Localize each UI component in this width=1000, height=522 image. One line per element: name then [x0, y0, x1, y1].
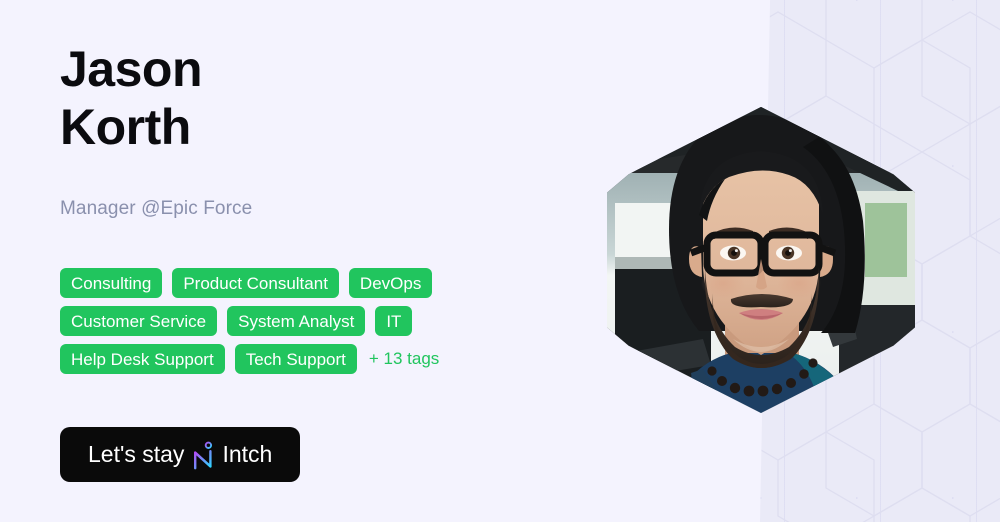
lets-stay-intch-button[interactable]: Let's stay Intch [60, 427, 300, 482]
cta-text-after: Intch [222, 441, 272, 468]
tag-chip[interactable]: Tech Support [235, 344, 357, 374]
tag-chip[interactable]: Customer Service [60, 306, 217, 336]
tag-list: Consulting Product Consultant DevOps Cus… [60, 268, 580, 374]
tag-chip[interactable]: Consulting [60, 268, 162, 298]
more-tags-label[interactable]: + 13 tags [369, 344, 439, 374]
intch-n-logo-icon [191, 441, 215, 471]
cta-text-before: Let's stay [88, 441, 184, 468]
tag-chip[interactable]: IT [375, 306, 412, 336]
page-title: Jason Korth [60, 40, 480, 156]
profile-content: Jason Korth Manager @Epic Force Consulti… [60, 0, 620, 522]
tag-chip[interactable]: System Analyst [227, 306, 365, 336]
profile-card: Jason Korth Manager @Epic Force Consulti… [0, 0, 1000, 522]
profile-role: Manager @Epic Force [60, 198, 252, 220]
tag-chip[interactable]: DevOps [349, 268, 432, 298]
tag-chip[interactable]: Help Desk Support [60, 344, 225, 374]
tag-chip[interactable]: Product Consultant [172, 268, 339, 298]
